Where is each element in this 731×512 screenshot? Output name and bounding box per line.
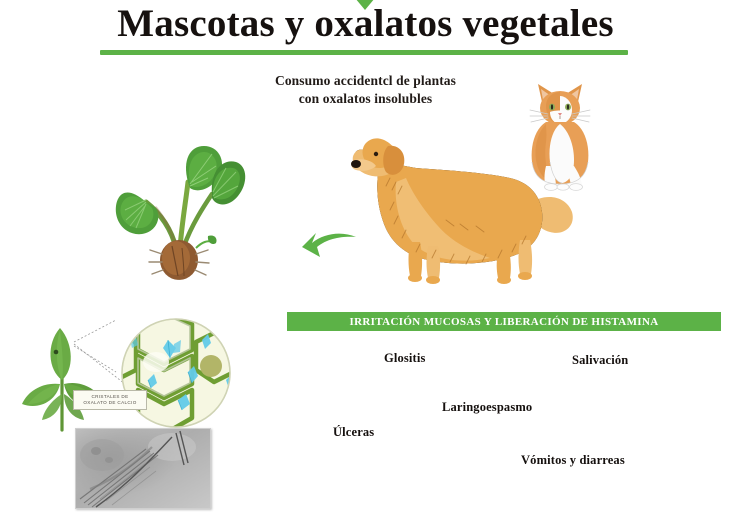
- symptom-glositis: Glositis: [384, 351, 425, 366]
- page-title: Mascotas y oxalatos vegetales: [0, 2, 731, 46]
- subtitle: Consumo accidentcl de plantas con oxalat…: [0, 72, 731, 108]
- subtitle-line-1: Consumo accidentcl de plantas: [0, 72, 731, 90]
- crystal-caption-line-2: OXALATO DE CALCIO: [76, 400, 144, 406]
- subtitle-line-2: con oxalatos insolubles: [0, 90, 731, 108]
- infographic-canvas: Mascotas y oxalatos vegetales Consumo ac…: [0, 0, 731, 512]
- plant-cell-crystal-diagram: [108, 318, 244, 428]
- orange-cat-illustration: [516, 76, 604, 192]
- green-curved-arrow-icon: [292, 225, 358, 267]
- title-divider: [100, 50, 628, 55]
- symptoms-banner: IRRITACIÓN MUCOSAS Y LIBERACIÓN DE HISTA…: [287, 312, 721, 331]
- symptom-laringoespasmo: Laringoespasmo: [442, 400, 532, 415]
- microscope-raphide-photo: [75, 428, 211, 509]
- crystal-caption-box: CRISTALES DE OXALATO DE CALCIO: [73, 390, 147, 410]
- symptom-salivacion: Salivación: [572, 353, 628, 368]
- taro-plant-illustration: [112, 140, 248, 280]
- symptoms-banner-text: IRRITACIÓN MUCOSAS Y LIBERACIÓN DE HISTA…: [349, 316, 658, 328]
- symptom-vomitos-y-diarreas: Vómitos y diarreas: [521, 453, 625, 468]
- symptom-ulceras: Úlceras: [333, 425, 374, 440]
- green-leaf-illustration: [22, 322, 106, 432]
